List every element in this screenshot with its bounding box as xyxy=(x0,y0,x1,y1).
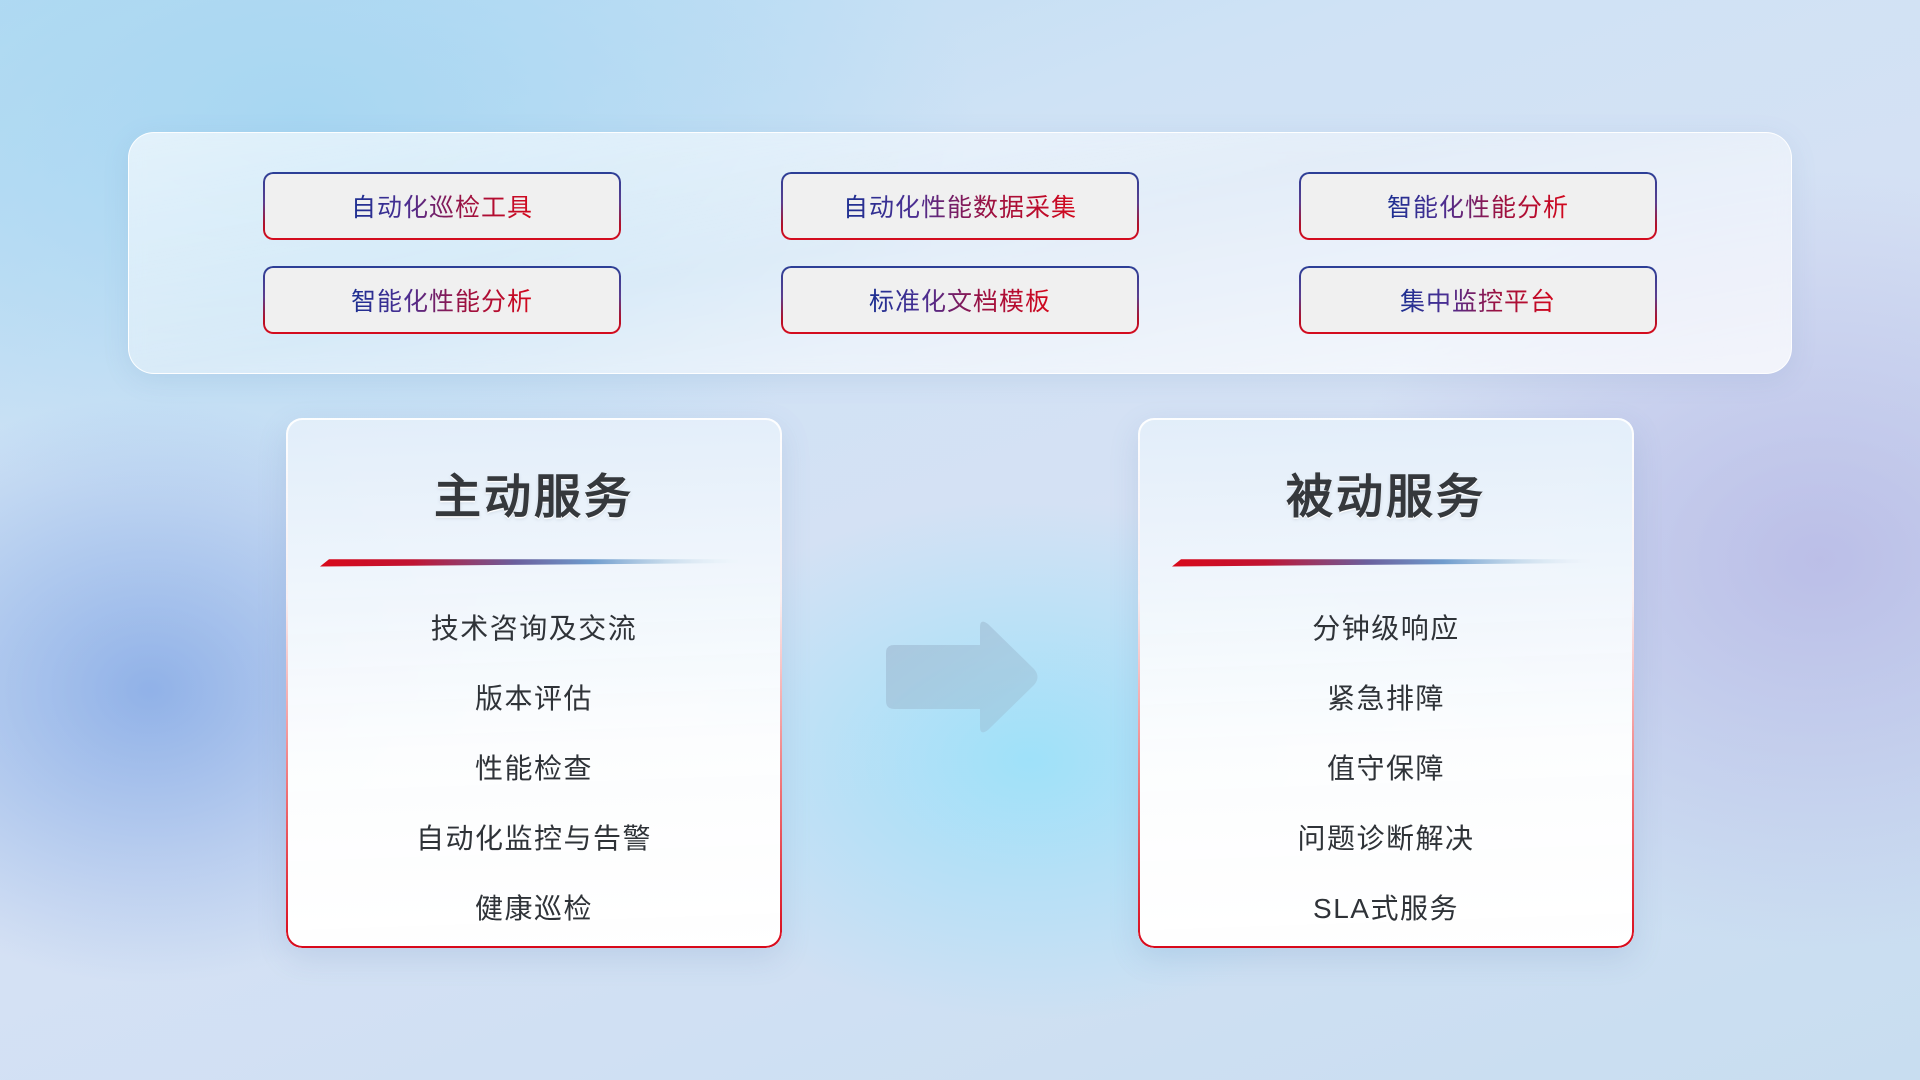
capability-pill[interactable]: 集中监控平台 xyxy=(1299,266,1657,334)
list-item: 健康巡检 xyxy=(286,874,782,944)
service-item-list: 技术咨询及交流 版本评估 性能检查 自动化监控与告警 健康巡检 xyxy=(286,594,782,944)
list-item: 问题诊断解决 xyxy=(1138,804,1634,874)
list-item: 技术咨询及交流 xyxy=(286,594,782,664)
capability-pill-label: 标准化文档模板 xyxy=(869,282,1051,318)
list-item: 版本评估 xyxy=(286,664,782,734)
arrow-right-icon xyxy=(876,617,1042,737)
capability-pill[interactable]: 智能化性能分析 xyxy=(263,266,621,334)
capabilities-panel: 自动化巡检工具 自动化性能数据采集 智能化性能分析 智能化性能分析 标准化文档模… xyxy=(128,132,1792,374)
list-item: 性能检查 xyxy=(286,734,782,804)
title-divider xyxy=(320,557,744,568)
service-card-title: 主动服务 xyxy=(286,458,782,527)
capability-pill-label: 自动化性能数据采集 xyxy=(843,188,1077,224)
list-item: 自动化监控与告警 xyxy=(286,804,782,874)
capability-pill[interactable]: 标准化文档模板 xyxy=(781,266,1139,334)
list-item: 紧急排障 xyxy=(1138,664,1634,734)
capability-pill[interactable]: 智能化性能分析 xyxy=(1299,172,1657,240)
capability-pill-label: 智能化性能分析 xyxy=(1387,188,1569,224)
service-card-passive: 被动服务 分钟级响应 紧急排障 值守保障 xyxy=(1138,418,1634,948)
title-divider xyxy=(1172,557,1596,568)
capability-pill[interactable]: 自动化巡检工具 xyxy=(263,172,621,240)
list-item: SLA式服务 xyxy=(1138,874,1634,944)
capability-pill-label: 智能化性能分析 xyxy=(351,282,533,318)
service-card-title: 被动服务 xyxy=(1138,458,1634,527)
service-card-active: 主动服务 技术咨询及交流 版本评估 性能检查 xyxy=(286,418,782,948)
slide-canvas: 自动化巡检工具 自动化性能数据采集 智能化性能分析 智能化性能分析 标准化文档模… xyxy=(0,0,1920,1080)
capability-pill[interactable]: 自动化性能数据采集 xyxy=(781,172,1139,240)
capability-pill-label: 集中监控平台 xyxy=(1400,282,1556,318)
service-item-list: 分钟级响应 紧急排障 值守保障 问题诊断解决 SLA式服务 xyxy=(1138,594,1634,944)
list-item: 值守保障 xyxy=(1138,734,1634,804)
list-item: 分钟级响应 xyxy=(1138,594,1634,664)
capability-pill-label: 自动化巡检工具 xyxy=(351,188,533,224)
